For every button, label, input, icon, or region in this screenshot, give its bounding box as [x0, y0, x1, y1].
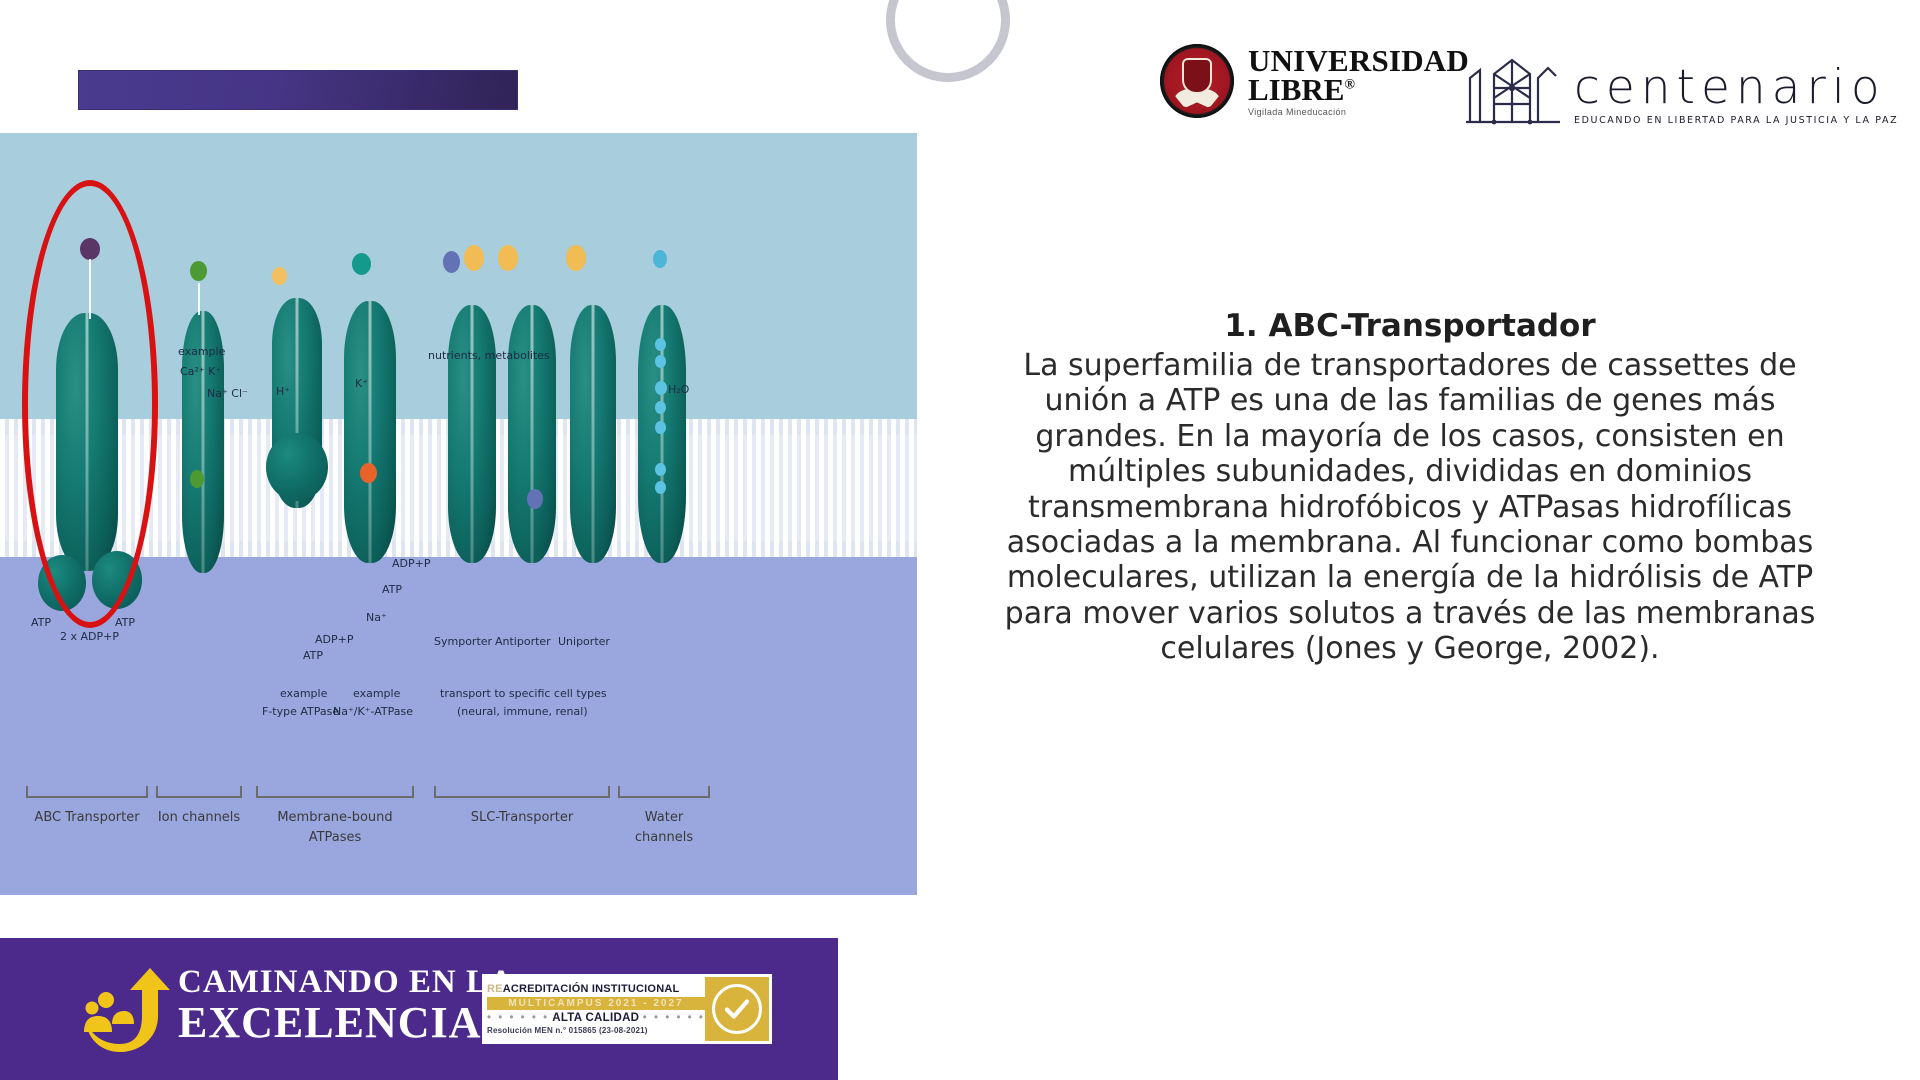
annotation-6: H₂O [668, 383, 689, 397]
accred-dots-right: • • • • • • [643, 1012, 705, 1024]
centenario-mark-icon [1460, 48, 1564, 126]
bracket-label-abc: ABC Transporter [26, 808, 148, 828]
annotation-5: nutrients, metabolites [428, 349, 550, 363]
centenario-logo: centenario EDUCANDO EN LIBERTAD PARA LA … [1460, 48, 1898, 126]
centenario-tagline: EDUCANDO EN LIBERTAD PARA LA JUSTICIA Y … [1574, 115, 1898, 126]
annotation-14: Na⁺ [366, 611, 387, 625]
title-accent-bar [78, 70, 518, 110]
ul-tagline: Vigilada Mineducación [1248, 108, 1469, 117]
ion-antiport-yellow [498, 245, 518, 271]
ion-green-cytosol [190, 470, 204, 488]
water-bead-4 [655, 401, 666, 414]
annotation-2: Na⁺ Cl⁻ [207, 387, 248, 401]
water-bead-1 [655, 338, 666, 351]
accred-dots-left: • • • • • • [487, 1012, 549, 1024]
universidad-libre-wordmark: UNIVERSIDAD LIBRE® Vigilada Mineducación [1248, 46, 1469, 116]
content-text-block: 1. ABC-Transportador La superfamilia de … [980, 308, 1840, 667]
annotation-21: Na⁺/K⁺-ATPase [333, 705, 413, 719]
checkmark-icon [722, 994, 752, 1024]
bracket-label-water: Water channels [618, 808, 710, 847]
bracket-label-atpases: Membrane-bound ATPases [256, 808, 414, 847]
annotation-1: Ca²⁺ K⁺ [180, 365, 221, 379]
pore [471, 305, 474, 563]
ul-registered: ® [1344, 78, 1354, 93]
annotation-7: ATP [31, 616, 51, 630]
slogan-line-1: CAMINANDO EN LA [178, 966, 514, 999]
slogan-line-2: EXCELENCIA [178, 1001, 514, 1045]
caminando-logo-icon [78, 960, 178, 1060]
annotation-19: F-type ATPase [262, 705, 339, 719]
annotation-15: Symporter [434, 635, 492, 649]
water-bead-7 [655, 481, 666, 494]
ion-green-example [190, 261, 207, 281]
slide-root: UNIVERSIDAD LIBRE® Vigilada Mineducación [0, 0, 1920, 1080]
ion-uniport-yellow [566, 245, 586, 271]
abc-highlight-ellipse [22, 180, 158, 628]
water-bead-2 [655, 355, 666, 368]
bracket-label-ion-channels: Ion channels [156, 808, 242, 828]
f-type-head-lobe [266, 433, 328, 501]
annotation-16: Antiporter [495, 635, 551, 649]
pore [369, 301, 372, 563]
membrane-transporters-figure: example Ca²⁺ K⁺ Na⁺ Cl⁻ H⁺ K⁺ nutrients,… [0, 133, 917, 763]
protein-symporter [448, 305, 496, 563]
ul-line2: LIBRE [1248, 72, 1344, 107]
body-paragraph: La superfamilia de transportadores de ca… [980, 348, 1840, 667]
accred-line-4: Resolución MEN n.° 015865 (23-08-2021) [487, 1026, 705, 1035]
annotation-3: H⁺ [276, 385, 290, 399]
page-title: 1. ABC-Transportador [980, 308, 1840, 344]
universidad-libre-seal-icon [1160, 44, 1234, 118]
annotation-13: ATP [382, 583, 402, 597]
protein-antiporter [508, 305, 556, 563]
water-bead-3 [655, 381, 667, 395]
annotation-11: ATP [303, 649, 323, 663]
ion-water [653, 250, 667, 268]
ion-symport-blue [443, 251, 460, 273]
bracket-label-slc: SLC-Transporter [434, 808, 610, 828]
protein-uniporter [570, 305, 616, 563]
pore [531, 305, 534, 563]
accred-line-1: ACREDITACIÓN INSTITUCIONAL [503, 983, 680, 995]
universidad-libre-logo: UNIVERSIDAD LIBRE® Vigilada Mineducación [1160, 44, 1469, 118]
logo-group: UNIVERSIDAD LIBRE® Vigilada Mineducación [1160, 44, 1900, 134]
ion-potassium [352, 253, 371, 275]
caminando-slogan: CAMINANDO EN LA EXCELENCIA [178, 966, 514, 1045]
ion-proton [272, 267, 287, 285]
check-seal-icon [712, 984, 762, 1034]
annotation-8: 2 x ADP+P [60, 630, 119, 644]
decorative-ring-icon [886, 0, 1010, 82]
ion-sodium [360, 463, 377, 483]
annotation-4: K⁺ [355, 377, 368, 391]
annotation-22: transport to specific cell types [440, 687, 607, 701]
ion-antiport-blue [527, 489, 543, 509]
centenario-word: centenario [1574, 64, 1898, 111]
annotation-0: example [178, 345, 225, 359]
accred-prefix: RE [487, 983, 503, 995]
figure-bracket-legend: ABC Transporter Ion channels Membrane-bo… [0, 786, 917, 906]
annotation-9: ATP [115, 616, 135, 630]
annotation-18: example [280, 687, 327, 701]
annotation-10: ADP+P [315, 633, 353, 647]
pore [592, 305, 595, 563]
annotation-17: Uniporter [558, 635, 610, 649]
accred-line-2: MULTICAMPUS 2021 - 2027 [487, 997, 705, 1010]
water-bead-5 [655, 421, 666, 434]
accred-seal-wrap [705, 977, 769, 1041]
footer-banner: CAMINANDO EN LA EXCELENCIA REACREDITACIÓ… [0, 938, 838, 1080]
arrow-ion-channel [198, 283, 200, 315]
accreditation-badge: REACREDITACIÓN INSTITUCIONAL MULTICAMPUS… [482, 974, 772, 1044]
protein-na-k-atpase [344, 301, 396, 563]
ion-symport-yellow [464, 245, 484, 271]
annotation-20: example [353, 687, 400, 701]
annotation-23: (neural, immune, renal) [457, 705, 588, 719]
annotation-12: ADP+P [392, 557, 430, 571]
accred-line-3: ALTA CALIDAD [552, 1012, 639, 1024]
water-bead-6 [655, 463, 666, 476]
